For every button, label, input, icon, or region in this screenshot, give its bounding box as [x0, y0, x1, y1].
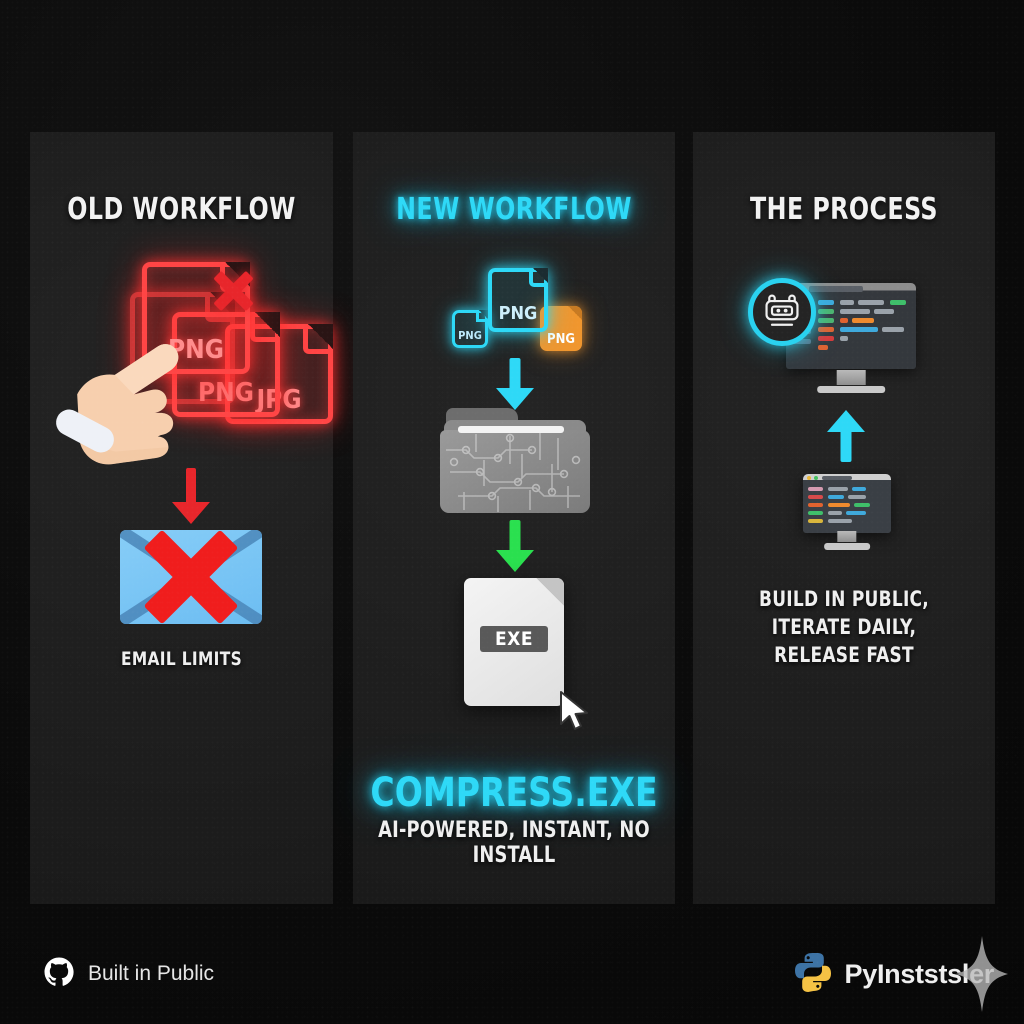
- arrow-down-icon: [170, 468, 212, 524]
- infographic-canvas: OLD WORKFLOW JPG PNG PNG: [0, 0, 1024, 1024]
- x-mark-icon: [210, 268, 256, 314]
- headline-compress-exe: COMPRESS.EXE: [366, 770, 662, 816]
- file-card-png-small: PNG: [452, 310, 488, 348]
- file-card-png-large: PNG: [488, 268, 548, 332]
- png-file-group: PNG PNG PNG: [452, 268, 582, 353]
- robot-head-icon: [748, 278, 816, 346]
- exe-file-icon: EXE: [464, 578, 564, 706]
- mouse-cursor-icon: [558, 690, 592, 732]
- github-icon: [42, 955, 76, 994]
- panel-title-the-process: THE PROCESS: [711, 192, 977, 227]
- exe-badge-label: EXE: [480, 626, 548, 652]
- python-logo-icon: [791, 950, 835, 999]
- footer-built-in-public[interactable]: Built in Public: [42, 952, 214, 996]
- caption-line: BUILD IN PUBLIC,: [708, 585, 980, 613]
- file-label: PNG: [499, 303, 538, 324]
- sparkle-icon: [956, 936, 1008, 1012]
- caption-process: BUILD IN PUBLIC, ITERATE DAILY, RELEASE …: [708, 585, 980, 669]
- file-label: PNG: [198, 378, 254, 408]
- arrow-down-icon: [494, 358, 536, 410]
- caption-line: ITERATE DAILY,: [708, 613, 980, 641]
- file-fold-corner: [568, 306, 582, 320]
- subheadline-features: AI-POWERED, INSTANT, NO INSTALL: [369, 818, 659, 868]
- arrow-up-icon: [826, 410, 866, 462]
- ai-circuit-folder-icon: [440, 408, 590, 513]
- footer-label: Built in Public: [88, 962, 214, 986]
- envelope-blocked-icon: [120, 530, 262, 624]
- file-fold-corner: [529, 268, 548, 287]
- file-fold-corner: [476, 310, 488, 322]
- caption-email-limits: EMAIL LIMITS: [45, 648, 318, 670]
- file-fold-corner: [250, 312, 280, 342]
- pointing-hand-icon: [48, 330, 198, 465]
- file-label: PNG: [547, 332, 575, 347]
- file-label: PNG: [458, 329, 482, 342]
- panel-title-old-workflow: OLD WORKFLOW: [48, 192, 315, 227]
- arrow-down-icon: [494, 520, 536, 572]
- panel-title-new-workflow: NEW WORKFLOW: [372, 192, 655, 227]
- x-mark-icon: [137, 523, 245, 631]
- desktop-monitor-code-icon: [803, 474, 891, 550]
- file-fold-corner: [303, 324, 333, 354]
- caption-line: RELEASE FAST: [708, 641, 980, 669]
